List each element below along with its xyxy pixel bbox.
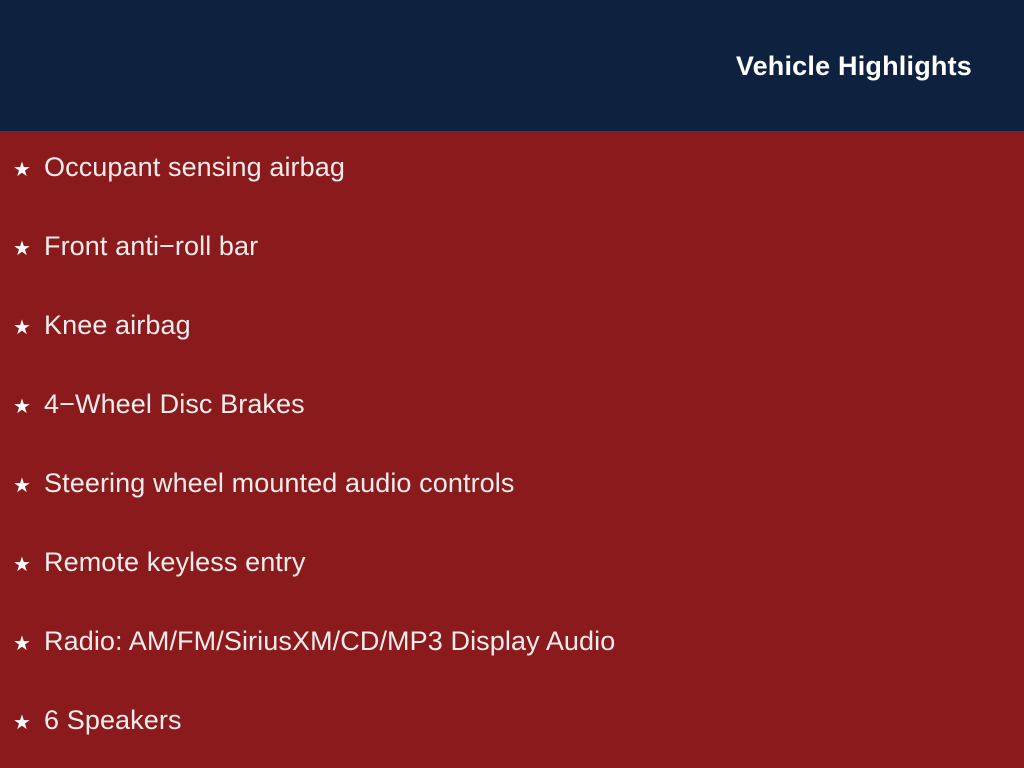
vehicle-highlights-slide: Vehicle Highlights ★ Occupant sensing ai… <box>0 0 1024 768</box>
list-item-label: 4−Wheel Disc Brakes <box>44 391 1024 418</box>
star-bullet-icon: ★ <box>13 160 44 180</box>
star-bullet-icon: ★ <box>13 476 44 496</box>
star-bullet-icon: ★ <box>13 713 44 733</box>
list-item: ★ Occupant sensing airbag <box>0 154 1024 233</box>
star-bullet-icon: ★ <box>13 318 44 338</box>
list-item-label: Front anti−roll bar <box>44 233 1024 260</box>
list-item-label: Occupant sensing airbag <box>44 154 1024 181</box>
list-item-label: Steering wheel mounted audio controls <box>44 470 1024 497</box>
list-item: ★ 6 Speakers <box>0 707 1024 768</box>
page-title: Vehicle Highlights <box>736 51 972 82</box>
list-item-label: Radio: AM/FM/SiriusXM/CD/MP3 Display Aud… <box>44 628 1024 655</box>
star-bullet-icon: ★ <box>13 239 44 259</box>
list-item: ★ Front anti−roll bar <box>0 233 1024 312</box>
list-item: ★ Remote keyless entry <box>0 549 1024 628</box>
vehicle-highlights-list: ★ Occupant sensing airbag ★ Front anti−r… <box>0 131 1024 768</box>
list-item: ★ Knee airbag <box>0 312 1024 391</box>
slide-header-banner: Vehicle Highlights <box>0 0 1024 131</box>
list-item: ★ 4−Wheel Disc Brakes <box>0 391 1024 470</box>
star-bullet-icon: ★ <box>13 397 44 417</box>
star-bullet-icon: ★ <box>13 634 44 654</box>
list-item: ★ Radio: AM/FM/SiriusXM/CD/MP3 Display A… <box>0 628 1024 707</box>
list-item-label: Knee airbag <box>44 312 1024 339</box>
list-item-label: Remote keyless entry <box>44 549 1024 576</box>
star-bullet-icon: ★ <box>13 555 44 575</box>
list-item-label: 6 Speakers <box>44 707 1024 734</box>
list-item: ★ Steering wheel mounted audio controls <box>0 470 1024 549</box>
